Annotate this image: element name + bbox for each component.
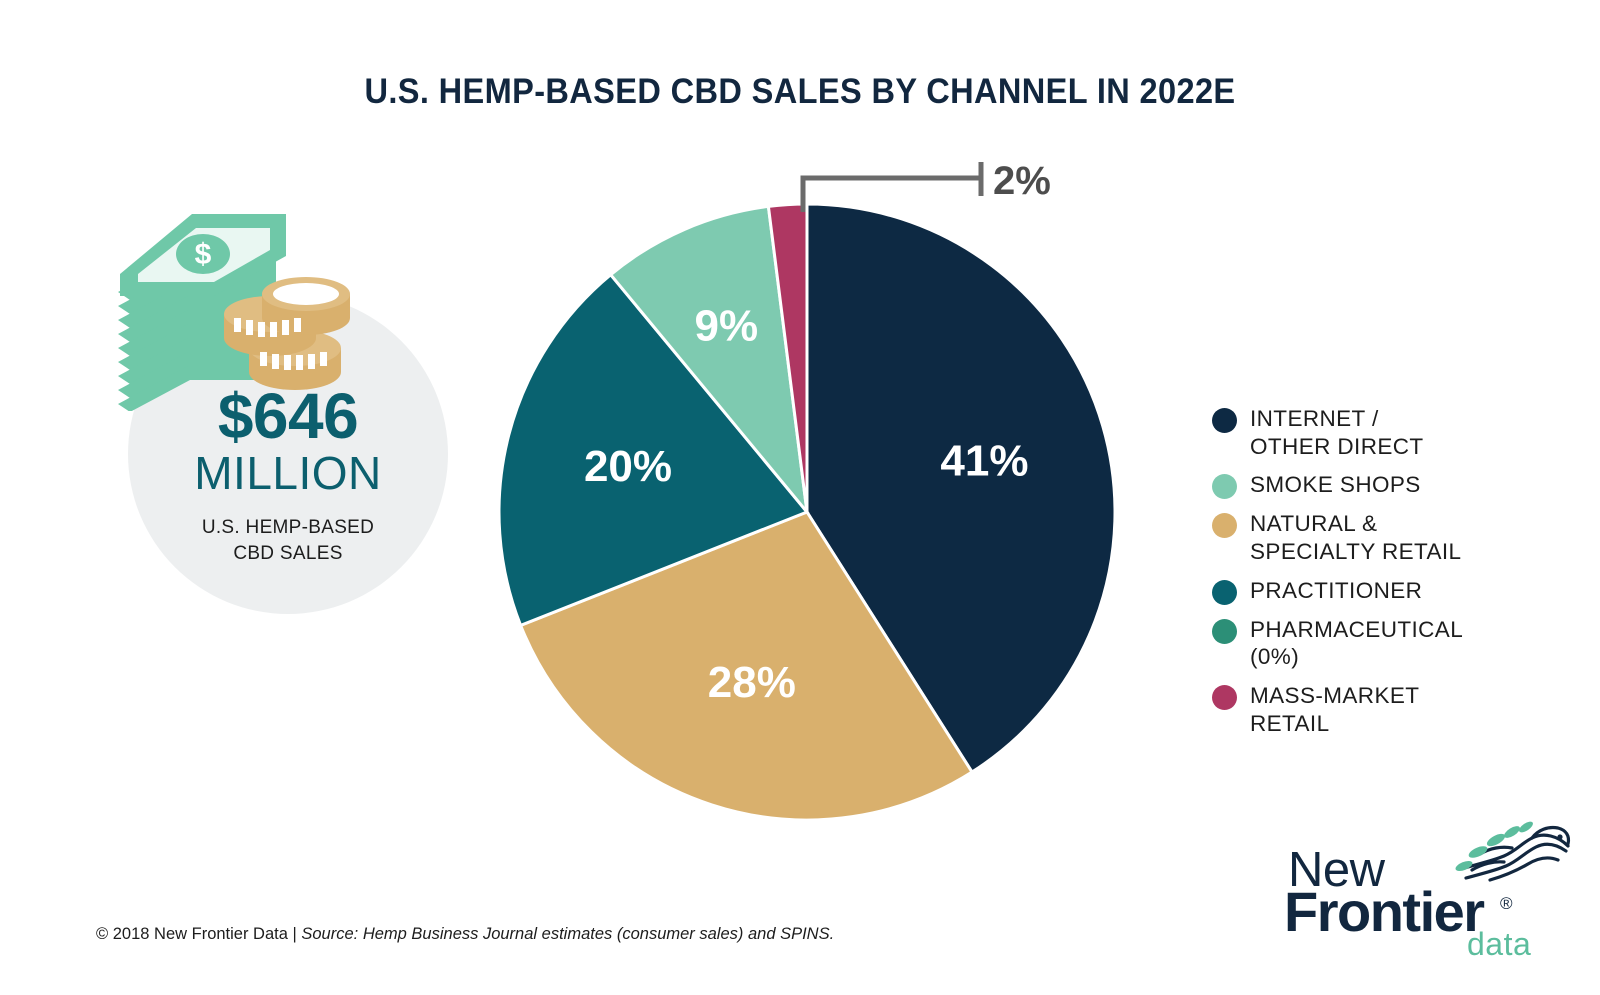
legend-item-label: PRACTITIONER: [1250, 577, 1422, 605]
legend-item-label: INTERNET / OTHER DIRECT: [1250, 405, 1424, 460]
brand-logo: New Frontier ® data: [1282, 818, 1572, 968]
legend-natural-specialty-retail[interactable]: NATURAL & SPECIALTY RETAIL: [1212, 510, 1582, 565]
legend-internet-other-direct[interactable]: INTERNET / OTHER DIRECT: [1212, 405, 1582, 460]
legend-mass-market-retail[interactable]: MASS-MARKET RETAIL: [1212, 682, 1582, 737]
pie-slice-label: 20%: [584, 442, 672, 491]
pie-slice-group: [499, 204, 1115, 820]
footer-source: © 2018 New Frontier Data | Source: Hemp …: [96, 925, 834, 944]
money-stack-coins-icon: $: [110, 196, 350, 411]
stat-text-block: $646 MILLION U.S. HEMP-BASED CBD SALES: [128, 386, 448, 566]
legend-item-label: SMOKE SHOPS: [1250, 471, 1421, 499]
infographic-canvas: U.S. HEMP-BASED CBD SALES BY CHANNEL IN …: [0, 0, 1600, 995]
logo-text-frontier: Frontier: [1284, 884, 1484, 940]
legend-color-swatch: [1212, 580, 1237, 605]
legend: INTERNET / OTHER DIRECTSMOKE SHOPSNATURA…: [1212, 405, 1582, 748]
logo-registered-mark: ®: [1500, 894, 1513, 914]
legend-color-swatch: [1212, 513, 1237, 538]
legend-practitioner[interactable]: PRACTITIONER: [1212, 577, 1582, 605]
legend-color-swatch: [1212, 619, 1237, 644]
logo-text-data: data: [1467, 928, 1531, 960]
svg-text:$: $: [195, 238, 212, 271]
pie-slice-label: 41%: [940, 436, 1028, 485]
legend-color-swatch: [1212, 685, 1237, 710]
footer-source-text: Source: Hemp Business Journal estimates …: [301, 925, 834, 943]
stat-callout: $: [110, 196, 460, 596]
page-title: U.S. HEMP-BASED CBD SALES BY CHANNEL IN …: [56, 72, 1544, 112]
stat-unit: MILLION: [128, 449, 448, 497]
legend-smoke-shops[interactable]: SMOKE SHOPS: [1212, 471, 1582, 499]
legend-item-label: MASS-MARKET RETAIL: [1250, 682, 1419, 737]
stat-caption: U.S. HEMP-BASED CBD SALES: [128, 515, 448, 566]
legend-item-label: NATURAL & SPECIALTY RETAIL: [1250, 510, 1461, 565]
pie-chart-svg: 41%28%20%9% 2%: [465, 150, 1165, 870]
callout-label-2-percent: 2%: [993, 159, 1051, 203]
legend-color-swatch: [1212, 474, 1237, 499]
pie-slice-label: 28%: [708, 658, 796, 707]
footer-copyright: © 2018 New Frontier Data |: [96, 925, 301, 943]
legend-item-label: PHARMACEUTICAL (0%): [1250, 616, 1463, 671]
pie-slice-label: 9%: [694, 301, 758, 350]
legend-pharmaceutical[interactable]: PHARMACEUTICAL (0%): [1212, 616, 1582, 671]
stat-value: $646: [128, 386, 448, 447]
legend-color-swatch: [1212, 408, 1237, 433]
pie-chart: 41%28%20%9% 2%: [465, 150, 1165, 870]
